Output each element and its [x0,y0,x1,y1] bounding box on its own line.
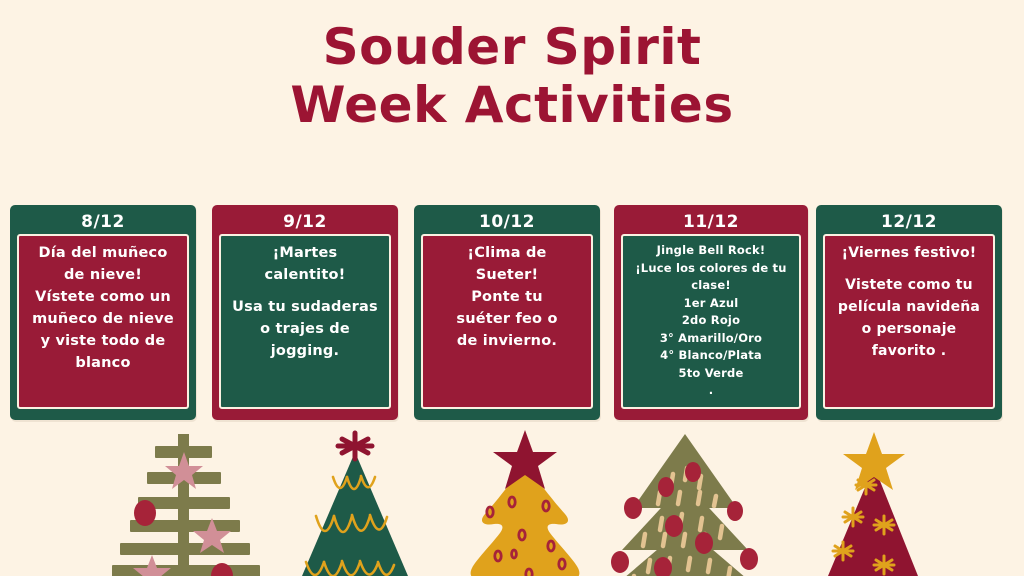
card-line: Ponte tu [428,286,586,308]
card-date: 8/12 [17,212,189,234]
card-line: de nieve! [24,264,182,286]
card-body: Día del muñecode nieve!Vístete como unmu… [17,234,189,409]
title-line-1: Souder Spirit [0,18,1024,76]
card-line: Vístete como un [24,286,182,308]
card-line: Vistete como tu [830,274,988,296]
card-date: 9/12 [219,212,391,234]
card-line: 5to Verde [628,365,794,383]
card-date: 11/12 [621,212,801,234]
gold-tree [471,430,580,576]
activity-card-8-12[interactable]: 8/12Día del muñecode nieve!Vístete como … [10,205,196,420]
card-body: ¡Clima deSueter!Ponte tusuéter feo ode i… [421,234,593,409]
tree-decoration-strip [0,430,1024,576]
card-body: Jingle Bell Rock!¡Luce los colores de tu… [621,234,801,409]
card-line: muñeco de nieve [24,308,182,330]
ladder-tree [112,434,260,576]
title-line-2: Week Activities [0,76,1024,134]
card-date: 12/12 [823,212,995,234]
card-line: 4° Blanco/Plata [628,347,794,365]
card-line: suéter feo o [428,308,586,330]
card-line: o trajes de [226,318,384,340]
card-body: ¡Martescalentito!Usa tu sudaderaso traje… [219,234,391,409]
card-body: ¡Viernes festivo!Vistete como tupelícula… [823,234,995,409]
card-line: Sueter! [428,264,586,286]
card-line: 1er Azul [628,295,794,313]
card-line: o personaje [830,318,988,340]
card-line-spacer [226,286,384,296]
sparkle-tree [828,432,918,576]
page-title: Souder Spirit Week Activities [0,18,1024,134]
card-line: calentito! [226,264,384,286]
activity-card-10-12[interactable]: 10/12¡Clima deSueter!Ponte tusuéter feo … [414,205,600,420]
activity-card-row: 8/12Día del muñecode nieve!Vístete como … [0,205,1024,420]
poster-canvas: Souder Spirit Week Activities 8/12Día de… [0,0,1024,576]
activity-card-11-12[interactable]: 11/12Jingle Bell Rock!¡Luce los colores … [614,205,808,420]
card-line: Jingle Bell Rock! [628,242,794,260]
card-line: clase! [628,277,794,295]
card-line: ¡Luce los colores de tu [628,260,794,278]
dashed-tree [610,434,760,576]
card-line: Día del muñeco [24,242,182,264]
card-line-spacer [830,264,988,274]
card-line: ¡Clima de [428,242,586,264]
card-line: y viste todo de [24,330,182,352]
card-line: Usa tu sudaderas [226,296,384,318]
card-line: jogging. [226,340,384,362]
card-line: ¡Viernes festivo! [830,242,988,264]
card-line: favorito . [830,340,988,362]
card-line: de invierno. [428,330,586,352]
card-date: 10/12 [421,212,593,234]
card-line: 2do Rojo [628,312,794,330]
activity-card-9-12[interactable]: 9/12¡Martescalentito!Usa tu sudaderaso t… [212,205,398,420]
card-line: blanco [24,352,182,374]
activity-card-12-12[interactable]: 12/12¡Viernes festivo!Vistete como tupel… [816,205,1002,420]
card-line: 3° Amarillo/Oro [628,330,794,348]
card-line: película navideña [830,296,988,318]
card-line: . [628,382,794,400]
card-line: ¡Martes [226,242,384,264]
garland-tree [302,433,408,576]
